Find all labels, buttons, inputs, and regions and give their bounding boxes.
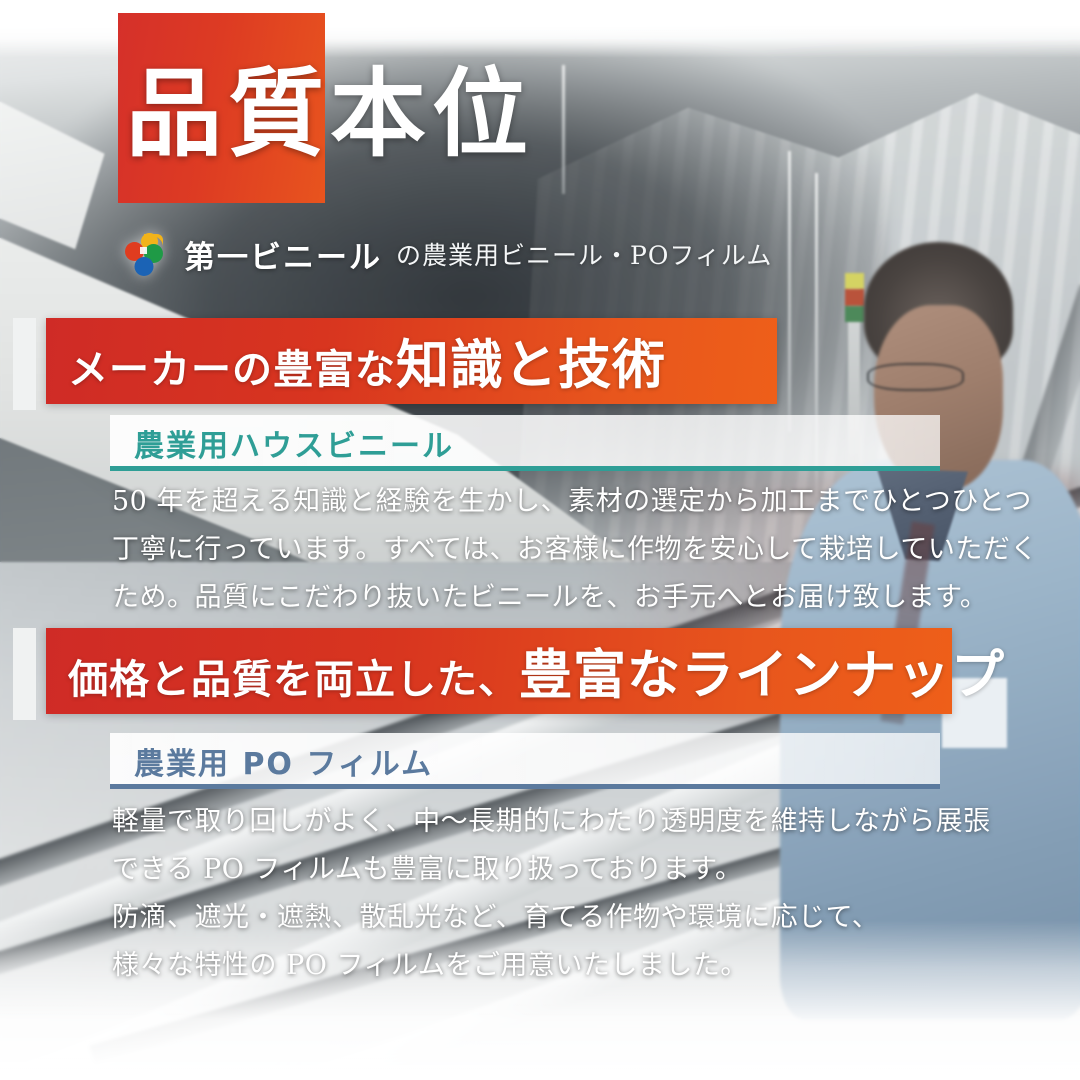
subsection-accent-rule	[110, 784, 940, 789]
paragraph-line: 丁寧に行っています。すべては、お客様に作物を安心して栽培していただく	[112, 526, 1038, 574]
subsection-heading: 農業用ハウスビニール	[110, 421, 454, 465]
brand-lockup: 第一ビニール の農業用ビニール・POフィルム	[118, 228, 772, 280]
section-accent-bar	[13, 628, 36, 720]
subsection-accent-rule	[110, 466, 940, 471]
paragraph-line: ため。品質にこだわり抜いたビニールを、お手元へとお届け致します。	[112, 574, 1038, 622]
section-paragraph: 軽量で取り回しがよく、中〜長期的にわたり透明度を維持しながら展張 できる PO …	[112, 798, 991, 990]
subsection-heading-band: 農業用ハウスビニール	[110, 415, 940, 471]
paragraph-line: 軽量で取り回しがよく、中〜長期的にわたり透明度を維持しながら展張	[112, 798, 991, 846]
section-banner: メーカーの豊富な知識と技術	[46, 318, 777, 404]
promotional-banner: 品質本位 第一ビニール の農業用ビニール・POフィルム メー	[0, 0, 1080, 1080]
paragraph-line: 50 年を超える知識と経験を生かし、素材の選定から加工までひとつひとつ	[112, 478, 1038, 526]
page-title: 品質本位	[126, 66, 534, 162]
subsection-heading: 農業用 PO フィルム	[110, 739, 433, 783]
brand-tagline: の農業用ビニール・POフィルム	[396, 236, 772, 272]
paragraph-line: 防滴、遮光・遮熱、散乱光など、育てる作物や環境に応じて、	[112, 894, 991, 942]
brand-name: 第一ビニール	[184, 232, 382, 277]
section-banner-small-text: 価格と品質を両立した、	[68, 656, 519, 703]
subsection-heading-band: 農業用 PO フィルム	[110, 733, 940, 789]
section-banner-big-text: 知識と技術	[396, 334, 666, 396]
dainichi-pinwheel-logo-icon	[118, 228, 170, 280]
section-banner: 価格と品質を両立した、豊富なラインナップ	[46, 628, 952, 714]
paragraph-line: できる PO フィルムも豊富に取り扱っております。	[112, 846, 991, 894]
section-accent-bar	[13, 318, 36, 410]
section-paragraph: 50 年を超える知識と経験を生かし、素材の選定から加工までひとつひとつ 丁寧に行…	[112, 478, 1038, 622]
section-banner-small-text: メーカーの豊富な	[68, 346, 396, 393]
section-banner-big-text: 豊富なラインナップ	[519, 644, 1005, 706]
paragraph-line: 様々な特性の PO フィルムをご用意いたしました。	[112, 942, 991, 990]
